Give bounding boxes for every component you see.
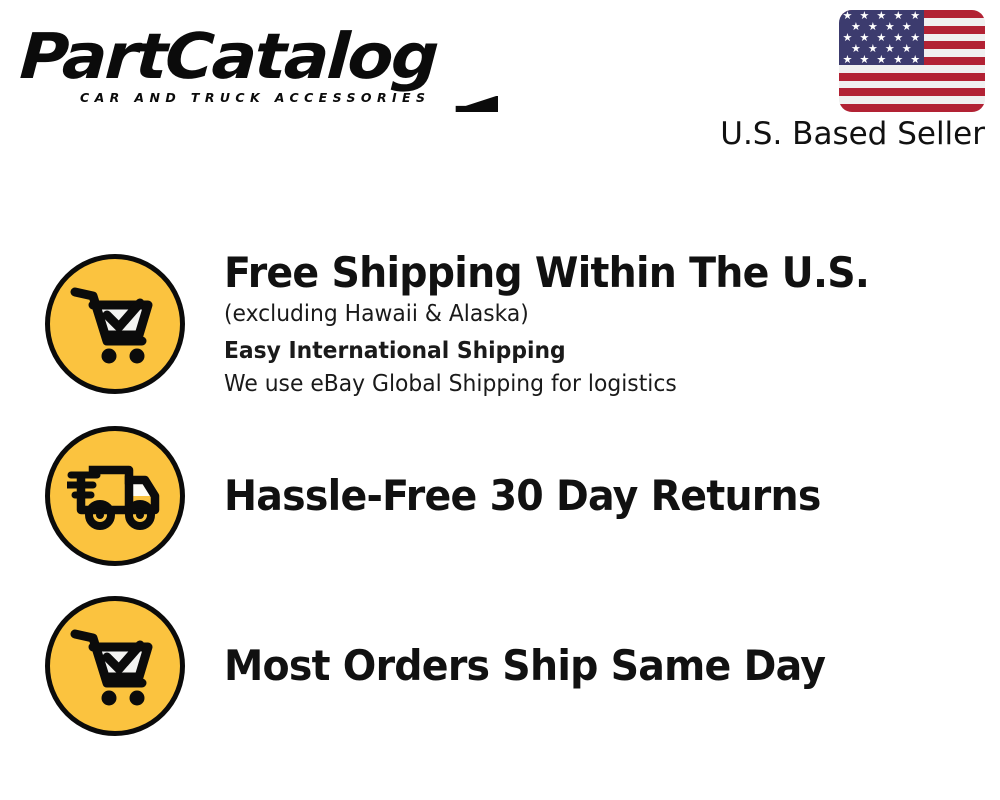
flag-star (860, 33, 869, 42)
flag-star (851, 44, 860, 53)
flag-stripe (839, 96, 985, 104)
feature-title: Hassle-Free 30 Day Returns (224, 471, 935, 521)
feature-title: Most Orders Ship Same Day (224, 641, 935, 691)
flag-star (868, 44, 877, 53)
flag-stripe (839, 73, 985, 81)
feature-subtitle-logistics: We use eBay Global Shipping for logistic… (224, 368, 942, 401)
flag-star (894, 11, 903, 20)
flag-stripe (839, 104, 985, 112)
us-based-seller-badge: U.S. Based Seller (705, 0, 985, 165)
flag-canton (839, 10, 924, 65)
flag-star (902, 22, 911, 31)
feature-text-block: Free Shipping Within The U.S. (excluding… (224, 248, 1000, 401)
feature-item-free-shipping: Free Shipping Within The U.S. (excluding… (0, 250, 1000, 398)
brand-logo: PartCatalog CAR AND TRUCK ACCESSORIES (22, 22, 492, 112)
feature-title: Free Shipping Within The U.S. (224, 248, 935, 298)
feature-item-same-day-ship: Most Orders Ship Same Day (0, 592, 1000, 740)
flag-star (877, 11, 886, 20)
flag-star (860, 55, 869, 64)
flag-star (911, 55, 920, 64)
feature-item-returns: Hassle-Free 30 Day Returns (0, 422, 1000, 570)
flag-star (860, 11, 869, 20)
shopping-cart-check-icon (45, 596, 185, 736)
flag-star (843, 11, 852, 20)
flag-star (877, 33, 886, 42)
flag-star (885, 22, 894, 31)
flag-star (894, 33, 903, 42)
shopping-cart-check-icon (45, 254, 185, 394)
us-based-seller-label: U.S. Based Seller (720, 116, 985, 152)
flag-stripe (839, 88, 985, 96)
brand-wordmark: PartCatalog (18, 22, 520, 92)
flag-star (885, 44, 894, 53)
feature-subtitle-international: Easy International Shipping (224, 335, 942, 368)
us-flag-icon (839, 10, 985, 112)
flag-star (868, 22, 877, 31)
logo-swoosh-icon (452, 96, 498, 112)
flag-star (894, 55, 903, 64)
flag-star (911, 11, 920, 20)
feature-subtitle-exclusions: (excluding Hawaii & Alaska) (224, 298, 942, 331)
delivery-truck-icon (45, 426, 185, 566)
brand-tagline: CAR AND TRUCK ACCESSORIES (80, 90, 430, 105)
flag-star (843, 33, 852, 42)
flag-star (911, 33, 920, 42)
flag-star (877, 55, 886, 64)
flag-star (843, 55, 852, 64)
flag-stripe (839, 65, 985, 73)
flag-stripe (839, 81, 985, 89)
feature-text-block: Most Orders Ship Same Day (224, 641, 1000, 691)
feature-text-block: Hassle-Free 30 Day Returns (224, 471, 1000, 521)
page-header: PartCatalog CAR AND TRUCK ACCESSORIES U.… (0, 0, 1000, 170)
flag-star (851, 22, 860, 31)
flag-star (902, 44, 911, 53)
